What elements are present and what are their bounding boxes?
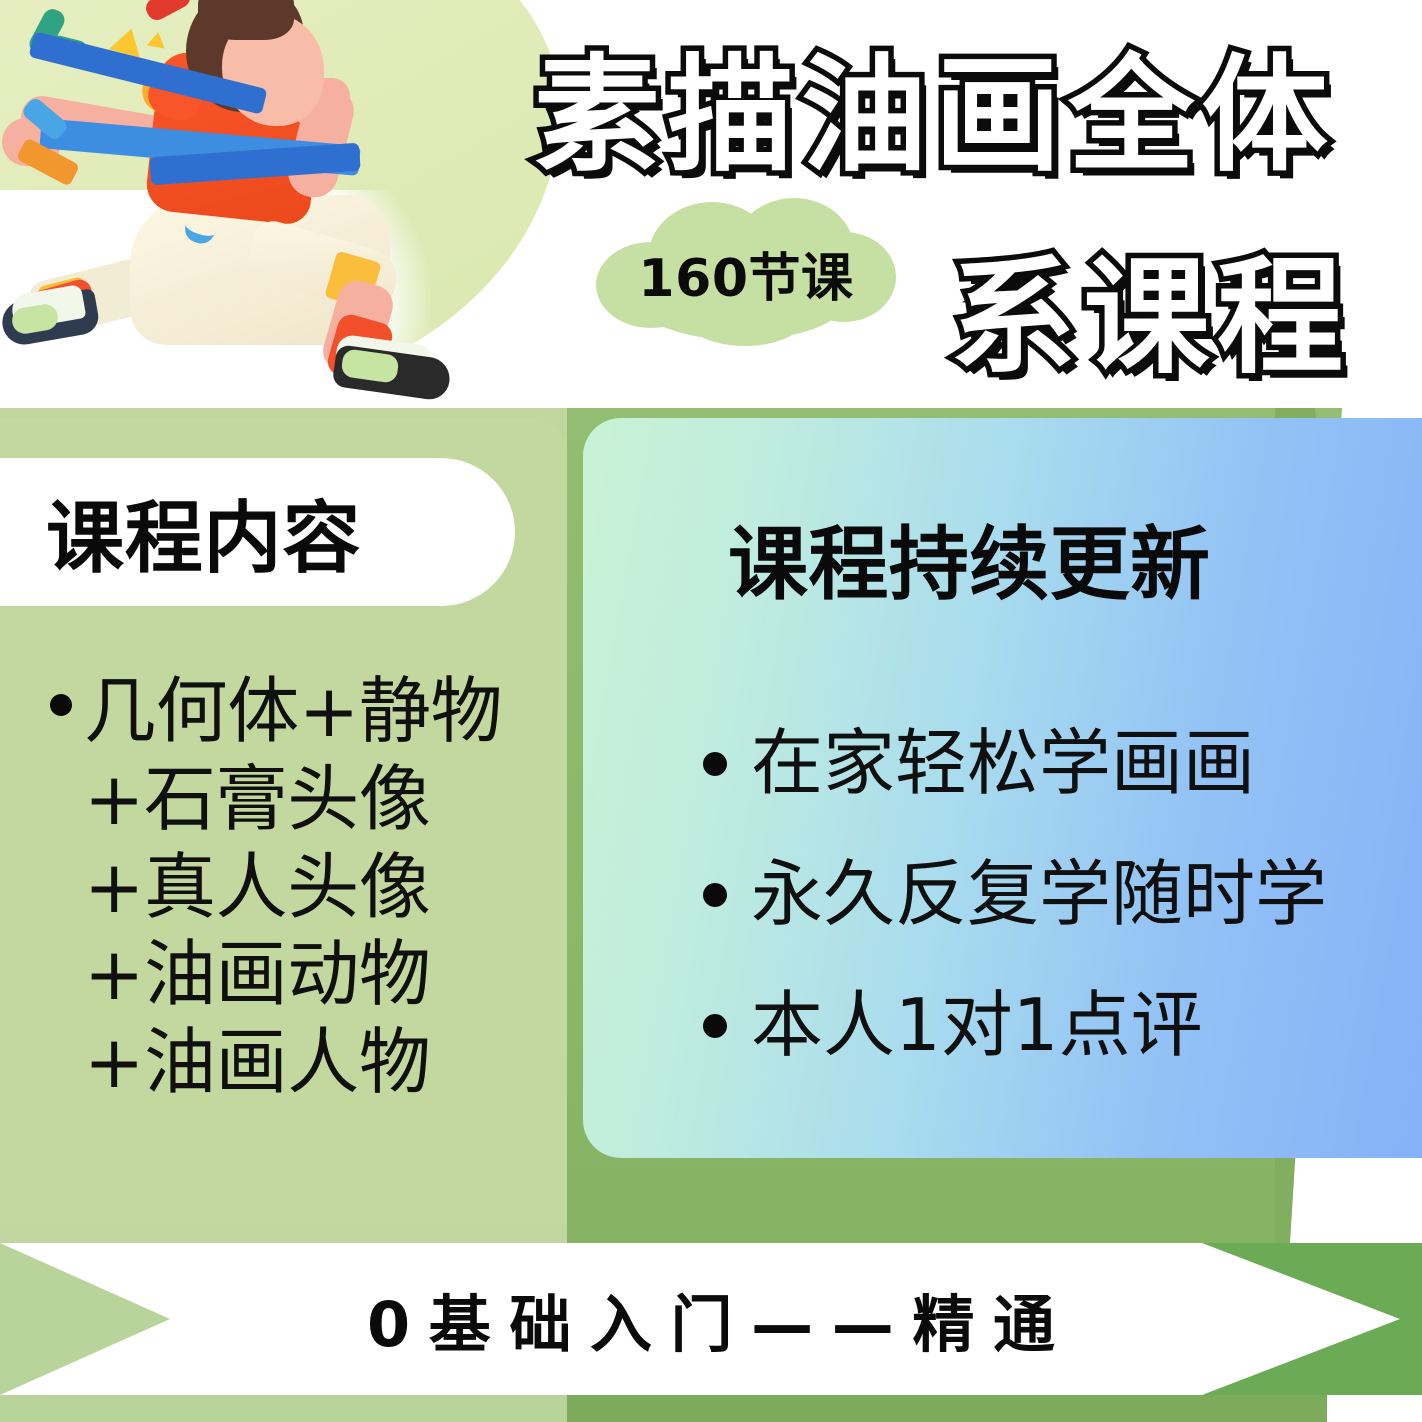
course-updates-heading: 课程持续更新 [728, 500, 1210, 616]
poster-title-line-2: 系课程 [950, 216, 1351, 398]
course-content-list: 几何体+静物+石膏头像+真人头像+油画动物+油画人物 [4, 668, 604, 1107]
footer-strip-right [567, 1395, 1327, 1422]
poster-title-line-1: 素描油画全体 [534, 14, 1335, 196]
course-updates-panel: 课程持续更新 在家轻松学画画 永久反复学随时学 本人1对1点评 [583, 418, 1422, 1158]
course-updates-bullet-3: 本人1对1点评 [751, 986, 1203, 1065]
course-content-heading: 课程内容 [46, 476, 361, 588]
bullet-dot-icon [703, 1014, 727, 1038]
bullet-dot-icon [50, 694, 72, 716]
course-content-heading-pill: 课程内容 [0, 458, 515, 606]
runner-hair-top [198, 0, 294, 40]
bullet-dot-icon [703, 883, 727, 907]
lesson-count-label: 160节课 [596, 198, 896, 348]
list-item: 永久反复学随时学 [703, 855, 1422, 934]
footer-ribbon: 0基础入门——精通 [0, 1243, 1422, 1395]
footer-ribbon-label: 0基础入门——精通 [0, 1243, 1422, 1395]
course-updates-list: 在家轻松学画画 永久反复学随时学 本人1对1点评 [663, 724, 1422, 1118]
confetti-yellow-triangle-small-icon [147, 31, 167, 49]
course-updates-bullet-2: 永久反复学随时学 [751, 855, 1327, 934]
poster-canvas: 素描油画全体 系课程 160节课 课程内容 几何体+静物+石膏头像+真人头像+油… [0, 0, 1422, 1422]
course-content-bullet-1: 几何体+静物+石膏头像+真人头像+油画动物+油画人物 [84, 668, 554, 1107]
bullet-dot-icon [703, 752, 727, 776]
footer-strip-left [0, 1395, 567, 1422]
course-updates-bullet-1: 在家轻松学画画 [751, 724, 1255, 803]
list-item: 本人1对1点评 [703, 986, 1422, 1065]
lesson-count-badge: 160节课 [596, 198, 896, 348]
list-item: 在家轻松学画画 [703, 724, 1422, 803]
list-item: 几何体+静物+石膏头像+真人头像+油画动物+油画人物 [44, 668, 604, 1107]
